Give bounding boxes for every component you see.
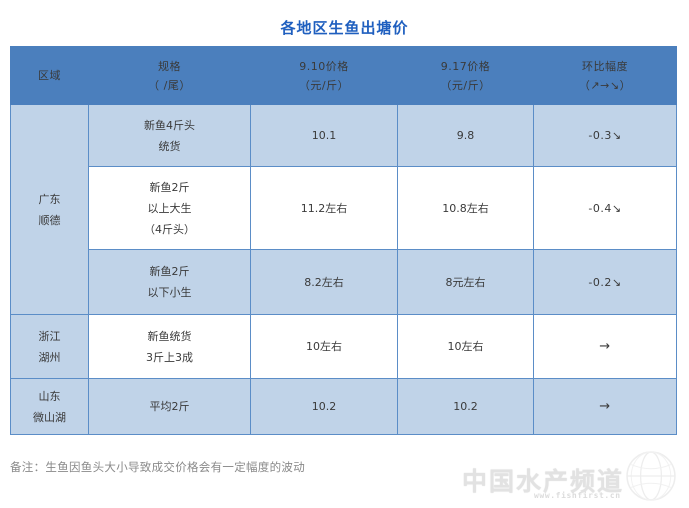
- table-row: 新鱼2斤 以上大生 （4斤头） 11.2左右 10.8左右 -0.4↘: [11, 167, 677, 250]
- column-header-change: 环比幅度 （↗→↘）: [534, 47, 677, 105]
- table-row: 广东 顺德 新鱼4斤头 统货 10.1 9.8 -0.3↘: [11, 105, 677, 167]
- price-917-cell: 10.2: [398, 379, 534, 435]
- price-917-cell: 8元左右: [398, 250, 534, 315]
- watermark: 中国水产频道 www.fishfirst.cn: [456, 450, 681, 506]
- price-910-cell: 8.2左右: [251, 250, 398, 315]
- price-table-container: 区域 规格 （ /尾） 9.10价格 （元/斤） 9.17价格 （元/斤）: [10, 46, 676, 435]
- table-row: 浙江 湖州 新鱼统货 3斤上3成 10左右 10左右 →: [11, 315, 677, 379]
- page-title: 各地区生鱼出塘价: [0, 17, 689, 38]
- region-cell-guangdong: 广东 顺德: [11, 105, 89, 315]
- price-917-cell: 10.8左右: [398, 167, 534, 250]
- change-cell: -0.3↘: [534, 105, 677, 167]
- spec-cell: 新鱼4斤头 统货: [89, 105, 251, 167]
- change-cell: →: [534, 379, 677, 435]
- change-cell: -0.2↘: [534, 250, 677, 315]
- change-cell: -0.4↘: [534, 167, 677, 250]
- header-row: 区域 规格 （ /尾） 9.10价格 （元/斤） 9.17价格 （元/斤）: [11, 47, 677, 105]
- price-table: 区域 规格 （ /尾） 9.10价格 （元/斤） 9.17价格 （元/斤）: [10, 46, 677, 435]
- spec-cell: 新鱼统货 3斤上3成: [89, 315, 251, 379]
- column-header-price-917: 9.17价格 （元/斤）: [398, 47, 534, 105]
- region-cell-zhejiang: 浙江 湖州: [11, 315, 89, 379]
- price-910-cell: 10.1: [251, 105, 398, 167]
- watermark-url: www.fishfirst.cn: [534, 491, 621, 500]
- footnote: 备注：生鱼因鱼头大小导致成交价格会有一定幅度的波动: [10, 459, 305, 475]
- column-header-price-910: 9.10价格 （元/斤）: [251, 47, 398, 105]
- table-row: 新鱼2斤 以下小生 8.2左右 8元左右 -0.2↘: [11, 250, 677, 315]
- globe-icon: [625, 450, 677, 502]
- spec-cell: 新鱼2斤 以下小生: [89, 250, 251, 315]
- table-header: 区域 规格 （ /尾） 9.10价格 （元/斤） 9.17价格 （元/斤）: [11, 47, 677, 105]
- column-header-spec: 规格 （ /尾）: [89, 47, 251, 105]
- price-917-cell: 9.8: [398, 105, 534, 167]
- price-910-cell: 10左右: [251, 315, 398, 379]
- price-910-cell: 11.2左右: [251, 167, 398, 250]
- region-cell-shandong: 山东 微山湖: [11, 379, 89, 435]
- spec-cell: 新鱼2斤 以上大生 （4斤头）: [89, 167, 251, 250]
- price-table-page: 各地区生鱼出塘价 区域 规格 （ /尾）: [0, 0, 689, 508]
- table-body: 广东 顺德 新鱼4斤头 统货 10.1 9.8 -0.3↘ 新鱼2斤 以上大: [11, 105, 677, 435]
- price-917-cell: 10左右: [398, 315, 534, 379]
- change-cell: →: [534, 315, 677, 379]
- spec-cell: 平均2斤: [89, 379, 251, 435]
- column-header-region: 区域: [11, 47, 89, 105]
- table-row: 山东 微山湖 平均2斤 10.2 10.2 →: [11, 379, 677, 435]
- watermark-text: 中国水产频道: [462, 462, 624, 498]
- price-910-cell: 10.2: [251, 379, 398, 435]
